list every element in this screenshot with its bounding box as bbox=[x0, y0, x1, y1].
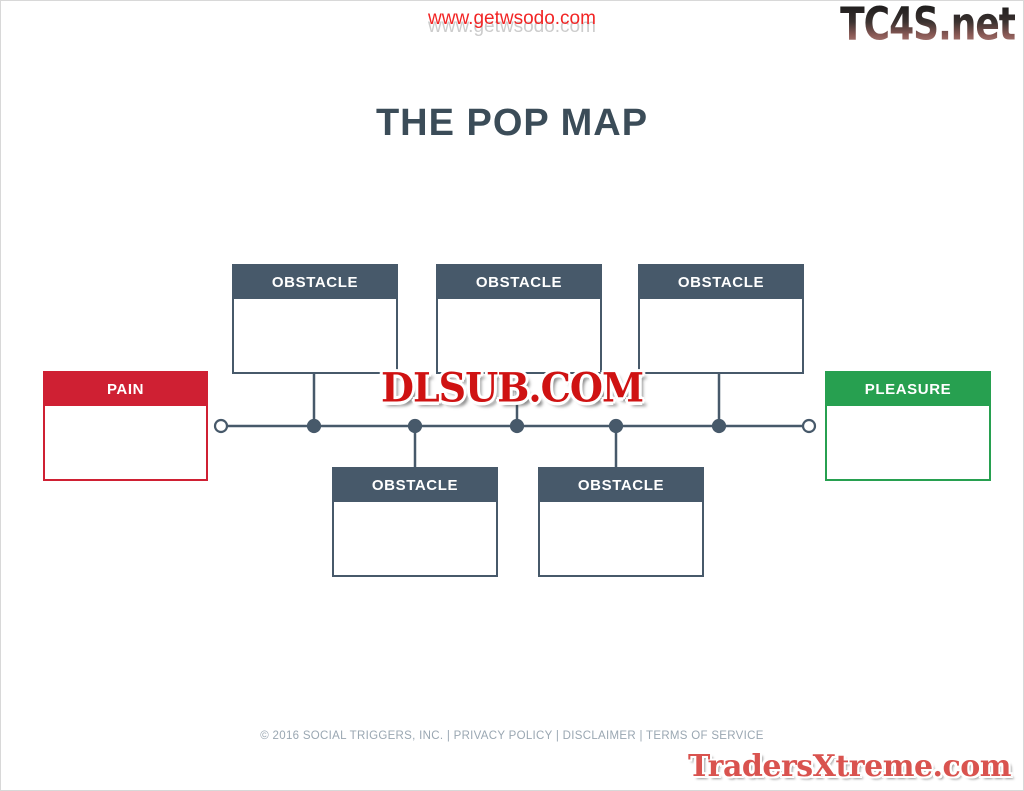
timeline-endpoint-node[interactable] bbox=[215, 420, 227, 432]
obstacle-card-3-header: OBSTACLE bbox=[640, 266, 802, 299]
obstacle-card-4-textarea[interactable] bbox=[334, 502, 496, 575]
obstacle-card-2[interactable]: OBSTACLE bbox=[436, 264, 602, 374]
pain-card-textarea[interactable] bbox=[45, 406, 206, 479]
timeline-node[interactable] bbox=[610, 420, 622, 432]
obstacle-card-1-textarea[interactable] bbox=[234, 299, 396, 372]
obstacle-card-2-textarea[interactable] bbox=[438, 299, 600, 372]
watermark-dlsub: DLSUB.COM bbox=[381, 368, 643, 408]
obstacle-card-3-textarea[interactable] bbox=[640, 299, 802, 372]
pleasure-card-textarea[interactable] bbox=[827, 406, 989, 479]
timeline-node[interactable] bbox=[308, 420, 320, 432]
obstacle-card-2-header: OBSTACLE bbox=[438, 266, 600, 299]
pleasure-card-header: PLEASURE bbox=[827, 373, 989, 406]
timeline-node[interactable] bbox=[409, 420, 421, 432]
pain-card-header: PAIN bbox=[45, 373, 206, 406]
obstacle-card-5-header: OBSTACLE bbox=[540, 469, 702, 502]
watermark-tradersxtreme: TradersXtreme.com bbox=[688, 752, 1011, 782]
obstacle-card-1[interactable]: OBSTACLE bbox=[232, 264, 398, 374]
obstacle-card-4[interactable]: OBSTACLE bbox=[332, 467, 498, 577]
obstacle-card-1-header: OBSTACLE bbox=[234, 266, 396, 299]
obstacle-card-3[interactable]: OBSTACLE bbox=[638, 264, 804, 374]
timeline-endpoint-node[interactable] bbox=[803, 420, 815, 432]
obstacle-card-5[interactable]: OBSTACLE bbox=[538, 467, 704, 577]
obstacle-card-4-header: OBSTACLE bbox=[334, 469, 496, 502]
obstacle-card-5-textarea[interactable] bbox=[540, 502, 702, 575]
watermark-tc4s-logo: TC4S.net bbox=[840, 3, 1015, 48]
timeline-node[interactable] bbox=[511, 420, 523, 432]
pop-map-page: www.getwsodo.com www.getwsodo.com TC4S.n… bbox=[0, 0, 1024, 791]
pain-card[interactable]: PAIN bbox=[43, 371, 208, 481]
pleasure-card[interactable]: PLEASURE bbox=[825, 371, 991, 481]
timeline-node[interactable] bbox=[713, 420, 725, 432]
